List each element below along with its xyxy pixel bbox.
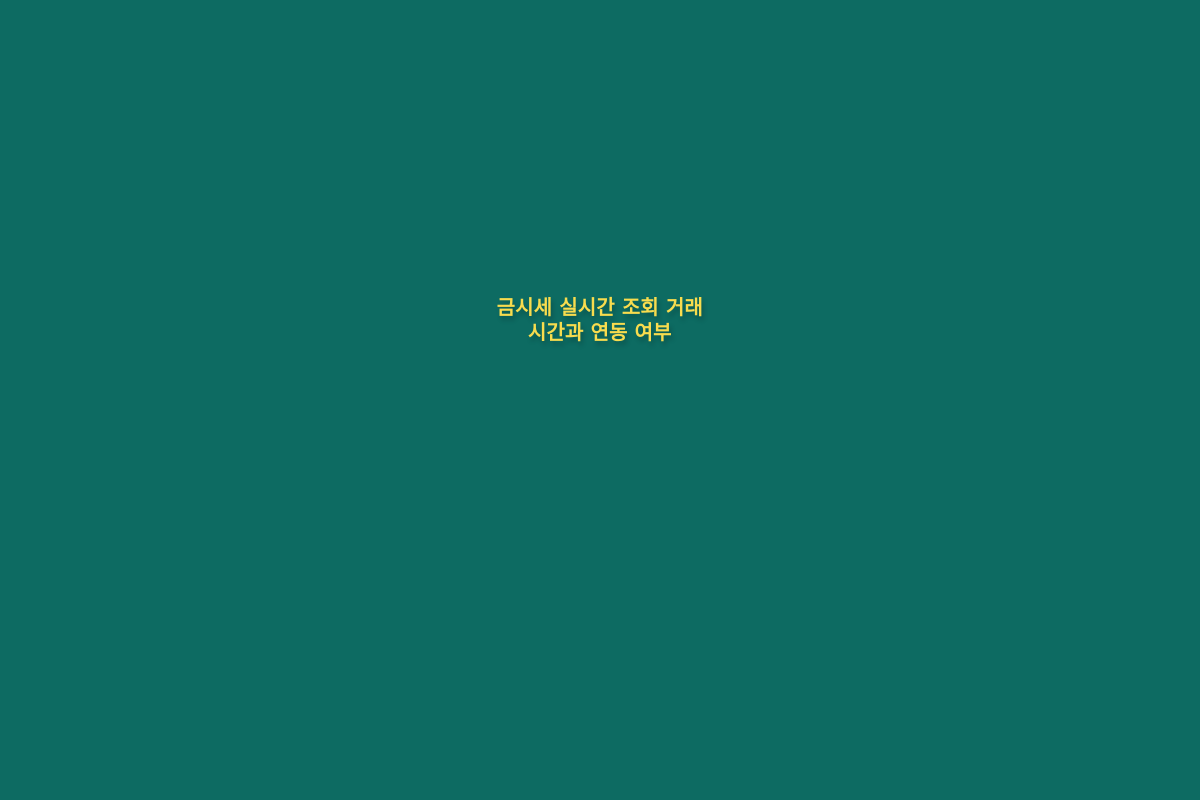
banner-title-block: 금시세 실시간 조회 거래 시간과 연동 여부 [40,295,1160,345]
banner-title-line-2: 시간과 연동 여부 [40,320,1160,345]
banner-title-line-1: 금시세 실시간 조회 거래 [40,295,1160,320]
banner-background: 금시세 실시간 조회 거래 시간과 연동 여부 [0,0,1200,800]
